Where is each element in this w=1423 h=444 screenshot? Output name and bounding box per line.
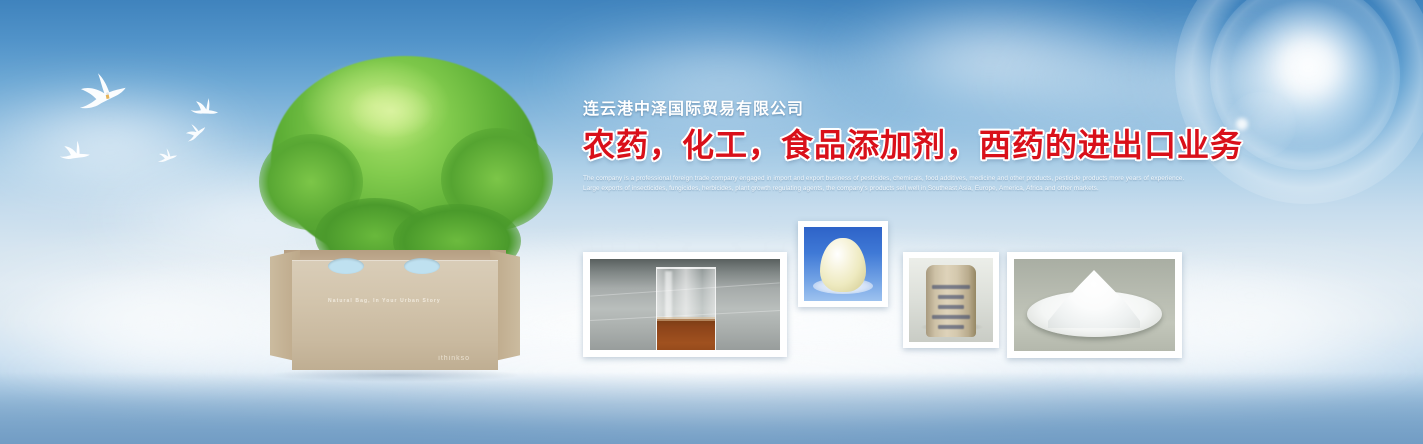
- sack-label-line: [938, 295, 964, 299]
- tree-canopy-sparkle: [349, 84, 433, 138]
- promo-banner: Natural Bag, In Your Urban Story ithinks…: [0, 0, 1423, 444]
- product-image-inner: [909, 258, 993, 342]
- dove-icon: [57, 138, 92, 166]
- banner-description: The company is a professional foreign tr…: [583, 174, 1187, 195]
- box-brand-label: ithinkso: [438, 355, 470, 362]
- box-tagline: Natural Bag, In Your Urban Story: [328, 298, 441, 304]
- sack-label-line: [932, 315, 970, 319]
- sack-label-line: [938, 305, 964, 309]
- woven-sack: [926, 265, 976, 337]
- amber-liquid: [657, 319, 715, 350]
- box-handle-cutout: [404, 258, 440, 274]
- banner-text-block: 连云港中泽国际贸易有限公司 农药，化工，食品添加剂，西药的进出口业务 The c…: [583, 100, 1183, 195]
- product-photo-woven-sack[interactable]: [903, 252, 999, 348]
- product-image-inner: [804, 227, 882, 301]
- box-handle-cutout: [328, 258, 364, 274]
- yellow-powder-heap: [820, 238, 866, 292]
- banner-headline: 农药，化工，食品添加剂，西药的进出口业务: [583, 127, 1183, 164]
- horizon-haze-band: [0, 372, 1423, 444]
- glass-bottle: [656, 267, 716, 350]
- dove-icon: [155, 147, 178, 165]
- company-name: 连云港中泽国际贸易有限公司: [583, 100, 1183, 119]
- product-photo-amber-liquid-bottle[interactable]: [583, 252, 787, 357]
- liquid-surface: [657, 317, 715, 321]
- sack-label-line: [938, 325, 964, 329]
- product-image-inner: [590, 259, 780, 350]
- product-photo-yellow-powder[interactable]: [798, 221, 888, 307]
- sack-label-line: [932, 285, 970, 289]
- product-photo-white-powder-plate[interactable]: [1007, 252, 1182, 358]
- cardboard-box: Natural Bag, In Your Urban Story ithinks…: [270, 250, 520, 380]
- box-front-panel: Natural Bag, In Your Urban Story ithinks…: [292, 260, 498, 370]
- product-image-inner: [1014, 259, 1175, 351]
